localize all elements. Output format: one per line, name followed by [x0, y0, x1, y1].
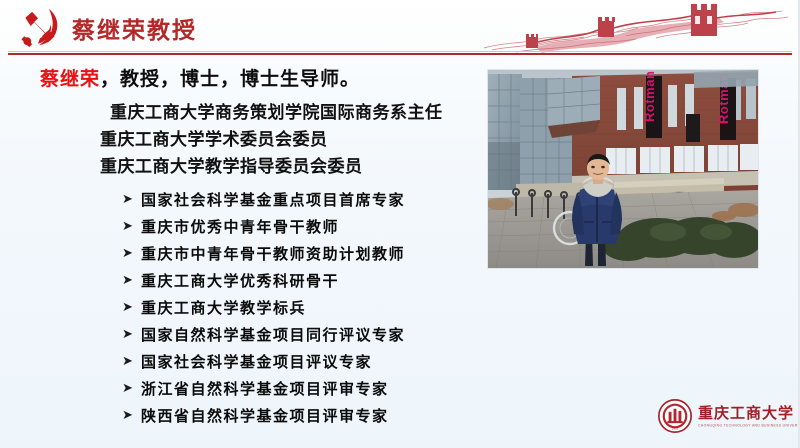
professor-name: 蔡继荣 — [40, 68, 100, 90]
list-item: ➤ 国家社会科学基金项目评议专家 — [122, 348, 502, 375]
list-item-label: 浙江省自然科学基金项目评审专家 — [141, 378, 389, 399]
list-item: ➤ 重庆工商大学优秀科研骨干 — [122, 267, 502, 294]
header-divider-soft — [8, 51, 792, 52]
university-name-cn: 重庆工商大学 — [698, 405, 800, 422]
list-item-label: 重庆工商大学教学标兵 — [141, 297, 306, 318]
list-item-label: 国家社会科学基金重点项目首席专家 — [141, 189, 405, 210]
professor-titles: ，教授，博士，博士生导师。 — [100, 68, 360, 90]
list-item-label: 国家社会科学基金项目评议专家 — [141, 351, 372, 372]
list-item-label: 重庆工商大学优秀科研骨干 — [141, 270, 339, 291]
arrow-bullet-icon: ➤ — [122, 301, 141, 314]
list-item: ➤ 国家社会科学基金重点项目首席专家 — [122, 186, 502, 213]
arrow-bullet-icon: ➤ — [122, 220, 141, 233]
list-item-label: 重庆市优秀中青年骨干教师 — [141, 216, 339, 237]
page-title: 蔡继荣教授 — [72, 11, 197, 45]
list-item-label: 国家自然科学基金项目同行评议专家 — [141, 324, 405, 345]
arrow-bullet-icon: ➤ — [122, 355, 141, 368]
list-item: ➤ 重庆市中青年骨干教师资助计划教师 — [122, 240, 502, 267]
list-item-label: 重庆市中青年骨干教师资助计划教师 — [141, 243, 405, 264]
slide-canvas: 蔡继荣教授 — [0, 0, 800, 448]
list-item: ➤ 国家自然科学基金项目同行评议专家 — [122, 321, 502, 348]
list-item: ➤ 重庆工商大学教学标兵 — [122, 294, 502, 321]
university-name-en: CHONGQING TECHNOLOGY AND BUSINESS UNIVER… — [698, 422, 800, 429]
arrow-bullet-icon: ➤ — [122, 193, 141, 206]
professor-intro-line: 蔡继荣，教授，博士，博士生导师。 — [40, 64, 360, 91]
university-wordmark: 重庆工商大学 CHONGQING TECHNOLOGY AND BUSINESS… — [698, 405, 800, 428]
role-line: 重庆工商大学商务策划学院国际商务系主任 — [100, 100, 500, 127]
arrow-bullet-icon: ➤ — [122, 247, 141, 260]
list-item: ➤ 重庆市优秀中青年骨干教师 — [122, 213, 502, 240]
svg-text:1952: 1952 — [672, 426, 679, 430]
portrait-photo-image: Rotman Rotman — [488, 70, 758, 268]
cpc-hammer-sickle-icon — [14, 6, 64, 50]
header-divider — [8, 53, 792, 55]
role-list: 重庆工商大学商务策划学院国际商务系主任 重庆工商大学学术委员会委员 重庆工商大学… — [100, 100, 500, 181]
arrow-bullet-icon: ➤ — [122, 274, 141, 287]
role-line: 重庆工商大学学术委员会委员 — [100, 127, 500, 154]
arrow-bullet-icon: ➤ — [122, 328, 141, 341]
great-wall-icon — [476, 2, 796, 54]
role-line: 重庆工商大学教学指导委员会委员 — [100, 154, 500, 181]
university-seal-icon: 1952 — [658, 399, 692, 433]
university-logo: 1952 重庆工商大学 CHONGQING TECHNOLOGY AND BUS… — [658, 396, 790, 436]
arrow-bullet-icon: ➤ — [122, 409, 141, 422]
arrow-bullet-icon: ➤ — [122, 382, 141, 395]
honors-list: ➤ 国家社会科学基金重点项目首席专家 ➤ 重庆市优秀中青年骨干教师 ➤ 重庆市中… — [122, 186, 502, 429]
portrait-photo: Rotman Rotman — [488, 70, 758, 268]
list-item-label: 陕西省自然科学基金项目评审专家 — [141, 405, 389, 426]
svg-text:Rotman: Rotman — [642, 71, 657, 122]
list-item: ➤ 浙江省自然科学基金项目评审专家 — [122, 375, 502, 402]
list-item: ➤ 陕西省自然科学基金项目评审专家 — [122, 402, 502, 429]
slide-header: 蔡继荣教授 — [0, 0, 800, 56]
